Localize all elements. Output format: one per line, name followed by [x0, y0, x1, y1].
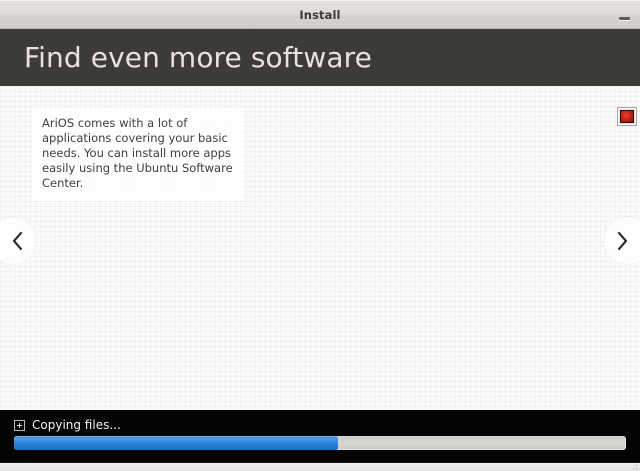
progress-status-text: Copying files... — [32, 418, 121, 432]
minimize-button[interactable] — [616, 7, 633, 23]
software-center-icon[interactable] — [617, 107, 637, 126]
resize-grip-icon[interactable] — [630, 462, 638, 470]
window-title: Install — [0, 1, 640, 29]
progress-bar — [14, 436, 626, 450]
progress-status-row: Copying files... — [14, 418, 121, 432]
minimize-icon — [619, 17, 630, 20]
progress-bar-fill — [14, 436, 338, 450]
expander-plus-icon[interactable] — [14, 420, 25, 431]
slide-title: Find even more software — [24, 29, 372, 86]
slide-body-text: AriOS comes with a lot of applications c… — [42, 116, 234, 191]
slide-info-panel: AriOS comes with a lot of applications c… — [32, 108, 244, 201]
chevron-right-icon — [616, 231, 639, 251]
chevron-left-icon — [1, 231, 24, 251]
title-bar: Install — [0, 0, 640, 29]
slide-header: Find even more software — [0, 29, 640, 86]
window-footer — [0, 462, 640, 471]
software-center-icon-glyph — [620, 110, 634, 123]
install-window: Install Find even more software AriOS co… — [0, 0, 640, 471]
